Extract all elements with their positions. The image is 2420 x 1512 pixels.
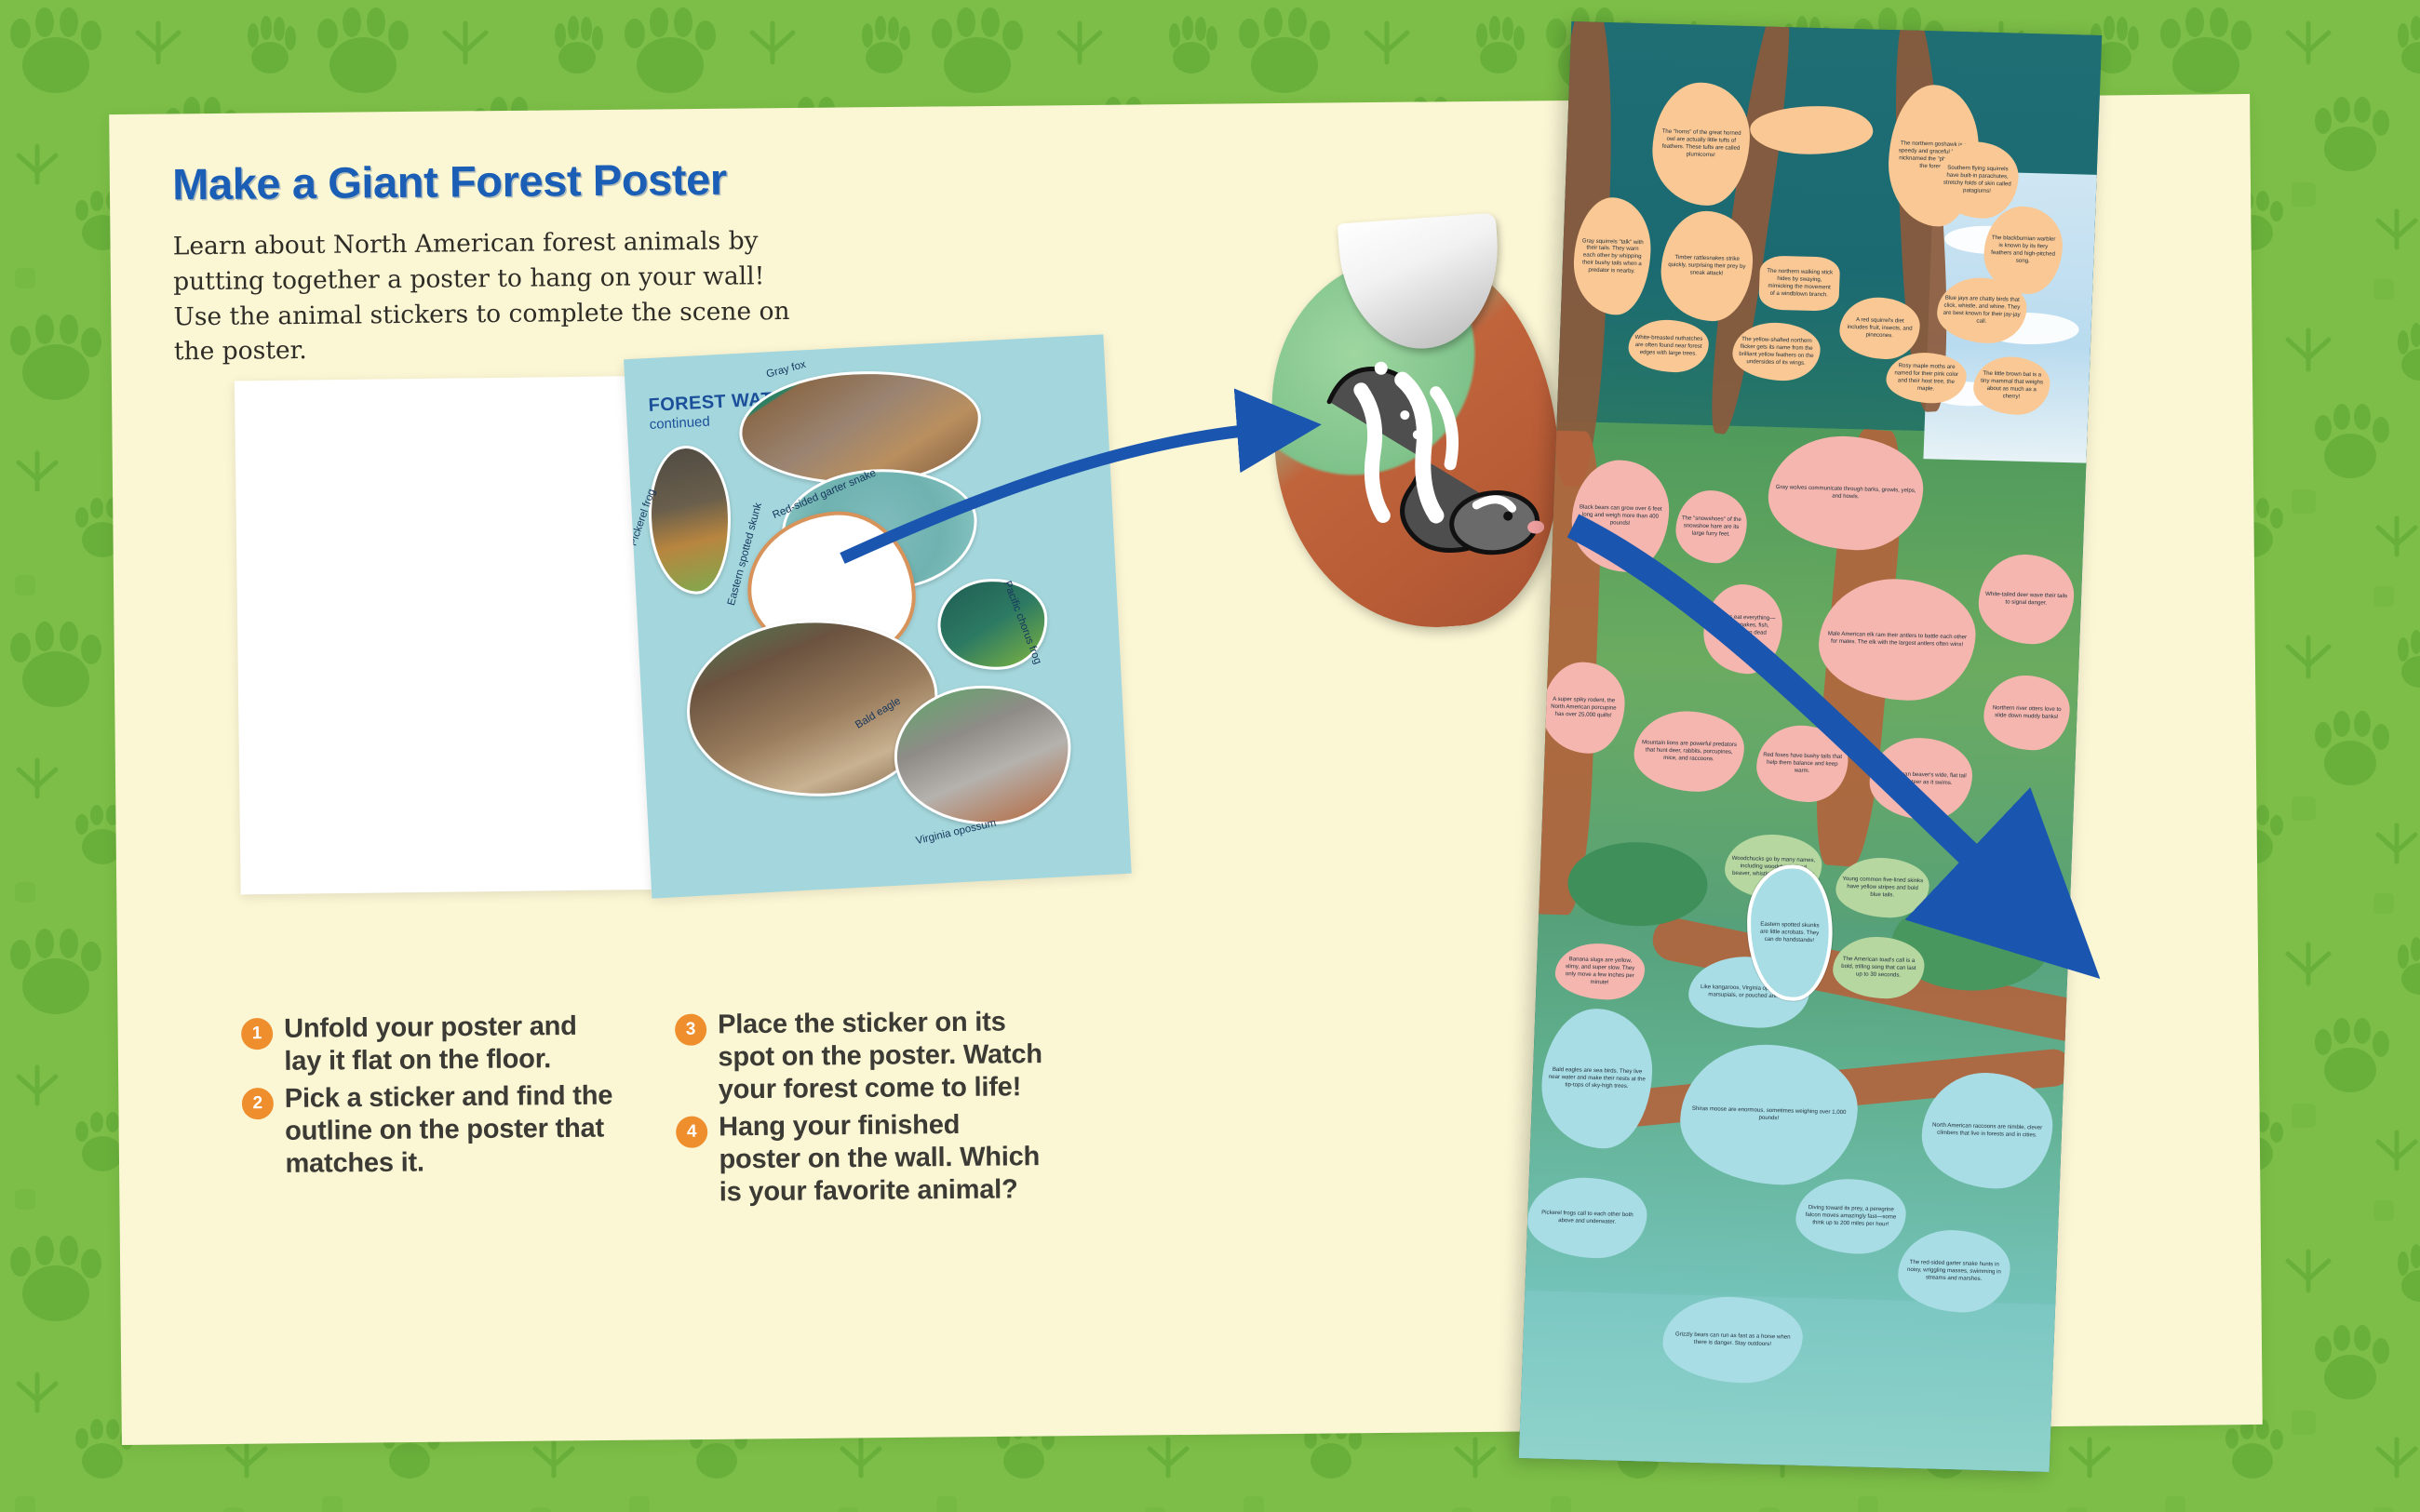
step-number-badge: 1 (241, 1018, 273, 1050)
step-text: Place the sticker on its spot on the pos… (718, 1006, 1048, 1107)
fact-text: Pickerel frogs call to each other both a… (1533, 1210, 1642, 1227)
step-item: 1 Unfold your poster and lay it flat on … (241, 1010, 614, 1078)
target-fact-text: Eastern spotted skunks are little acroba… (1755, 921, 1823, 944)
fact-text: Mountain lions are powerful predators th… (1639, 740, 1739, 764)
fact-text: White-tailed deer wave their tails to si… (1984, 591, 2069, 608)
steps-column-right: 3 Place the sticker on its spot on the p… (675, 1006, 1049, 1214)
fact-text: Red foxes have bushy tails that help the… (1762, 752, 1843, 776)
step-text: Hang your finished poster on the wall. W… (719, 1108, 1049, 1210)
fact-text: Gray wolves communicate through barks, g… (1774, 484, 1918, 502)
sticker-label-gray-fox: Gray fox (765, 359, 807, 381)
step-number-badge: 3 (675, 1014, 706, 1046)
fact-text: Male American elk ram their antlers to b… (1824, 631, 1970, 649)
sticker-pickerel-frog[interactable] (645, 444, 734, 596)
fact-text: Timber rattlesnakes strike quickly, surp… (1666, 254, 1747, 278)
fact-text: Shiras moose are enormous, sometimes wei… (1686, 1105, 1852, 1124)
step-number-badge: 2 (242, 1088, 274, 1119)
fact-text: A red squirrel's diet includes fruit, in… (1845, 316, 1915, 340)
fact-text: Blue jays are chatty birds that click, w… (1943, 295, 2022, 326)
step-number-badge: 4 (676, 1117, 707, 1148)
loose-sticker-eastern-spotted-skunk[interactable] (1252, 208, 1587, 638)
step-item: 2 Pick a sticker and find the outline on… (242, 1080, 615, 1182)
sticker-sheet-left-page (235, 376, 656, 894)
sticker-sheet-right-page: FOREST WATERS, continued Gray fox Picker… (624, 334, 1132, 898)
activity-page: Make a Giant Forest Poster Learn about N… (0, 0, 2420, 1512)
giant-forest-poster[interactable]: The "horns" of the great horned owl are … (1519, 21, 2102, 1472)
fact-text: Southern flying squirrels have built-in … (1942, 165, 2013, 195)
step-text: Pick a sticker and find the outline on t… (285, 1080, 615, 1182)
fact-text: The northern walking stick hides by sway… (1765, 268, 1835, 299)
fact-text: The red-sided garter snake hunts in nois… (1903, 1259, 2005, 1283)
intro-block: Make a Giant Forest Poster Learn about N… (172, 155, 826, 370)
fact-text: The little brown bat is a tiny mammal th… (1979, 370, 2045, 401)
fact-text: The yellow-shafted northern flicker gets… (1738, 336, 1815, 367)
fact-text: Young common five-lined skinks have yell… (1841, 876, 1924, 900)
sticker-outline[interactable]: The northern walking stick hides by sway… (1758, 255, 1840, 311)
fact-text: The American toad's call is a bold, tril… (1838, 956, 1919, 980)
fact-text: A super spiky rodent, the North American… (1548, 696, 1620, 719)
intro-paragraph: Learn about North American forest animal… (173, 223, 816, 369)
fact-text: The blackburnian warbler is known by its… (1989, 234, 2057, 265)
sticker-sheet-booklet[interactable]: FOREST WATERS, continued Gray fox Picker… (228, 339, 1126, 909)
fact-text: Bald eagles are sea birds. They live nea… (1547, 1066, 1647, 1091)
fact-text: Grizzly bears can run as fast as a horse… (1668, 1331, 1797, 1348)
fact-text: Gray squirrels "talk" with their tails. … (1579, 237, 1645, 275)
sticker-label-virginia-opossum: Virginia opossum (915, 818, 997, 847)
fact-text: The "snowshoes" of the snowshoe hare are… (1681, 515, 1741, 539)
steps-column-left: 1 Unfold your poster and lay it flat on … (241, 1010, 615, 1218)
fact-text: The American beaver's wide, flat tail he… (1875, 770, 1968, 787)
fact-text: White-breasted nuthatches are often foun… (1633, 334, 1703, 357)
fact-text: Diving toward its prey, a peregrine falc… (1801, 1204, 1901, 1228)
instruction-steps: 1 Unfold your poster and lay it flat on … (241, 1006, 1081, 1219)
fact-text: Northern river otters love to slide down… (1989, 704, 2064, 721)
page-title: Make a Giant Forest Poster (172, 155, 824, 207)
fact-text: Rosy maple moths are named for their pin… (1891, 363, 1961, 394)
step-text: Unfold your poster and lay it flat on th… (284, 1010, 614, 1078)
fact-text: Coyotes eat everything—rabbits, snakes, … (1709, 614, 1777, 645)
fact-text: Banana slugs are yellow, slimy, and supe… (1560, 956, 1639, 986)
fact-text: Black bears can grow over 6 feet long an… (1578, 504, 1664, 529)
fact-text: North American raccoons are nimble, clev… (1928, 1122, 2048, 1140)
step-item: 3 Place the sticker on its spot on the p… (675, 1006, 1048, 1107)
step-item: 4 Hang your finished poster on the wall.… (676, 1108, 1049, 1210)
fact-text: The "horns" of the great horned owl are … (1658, 128, 1744, 160)
